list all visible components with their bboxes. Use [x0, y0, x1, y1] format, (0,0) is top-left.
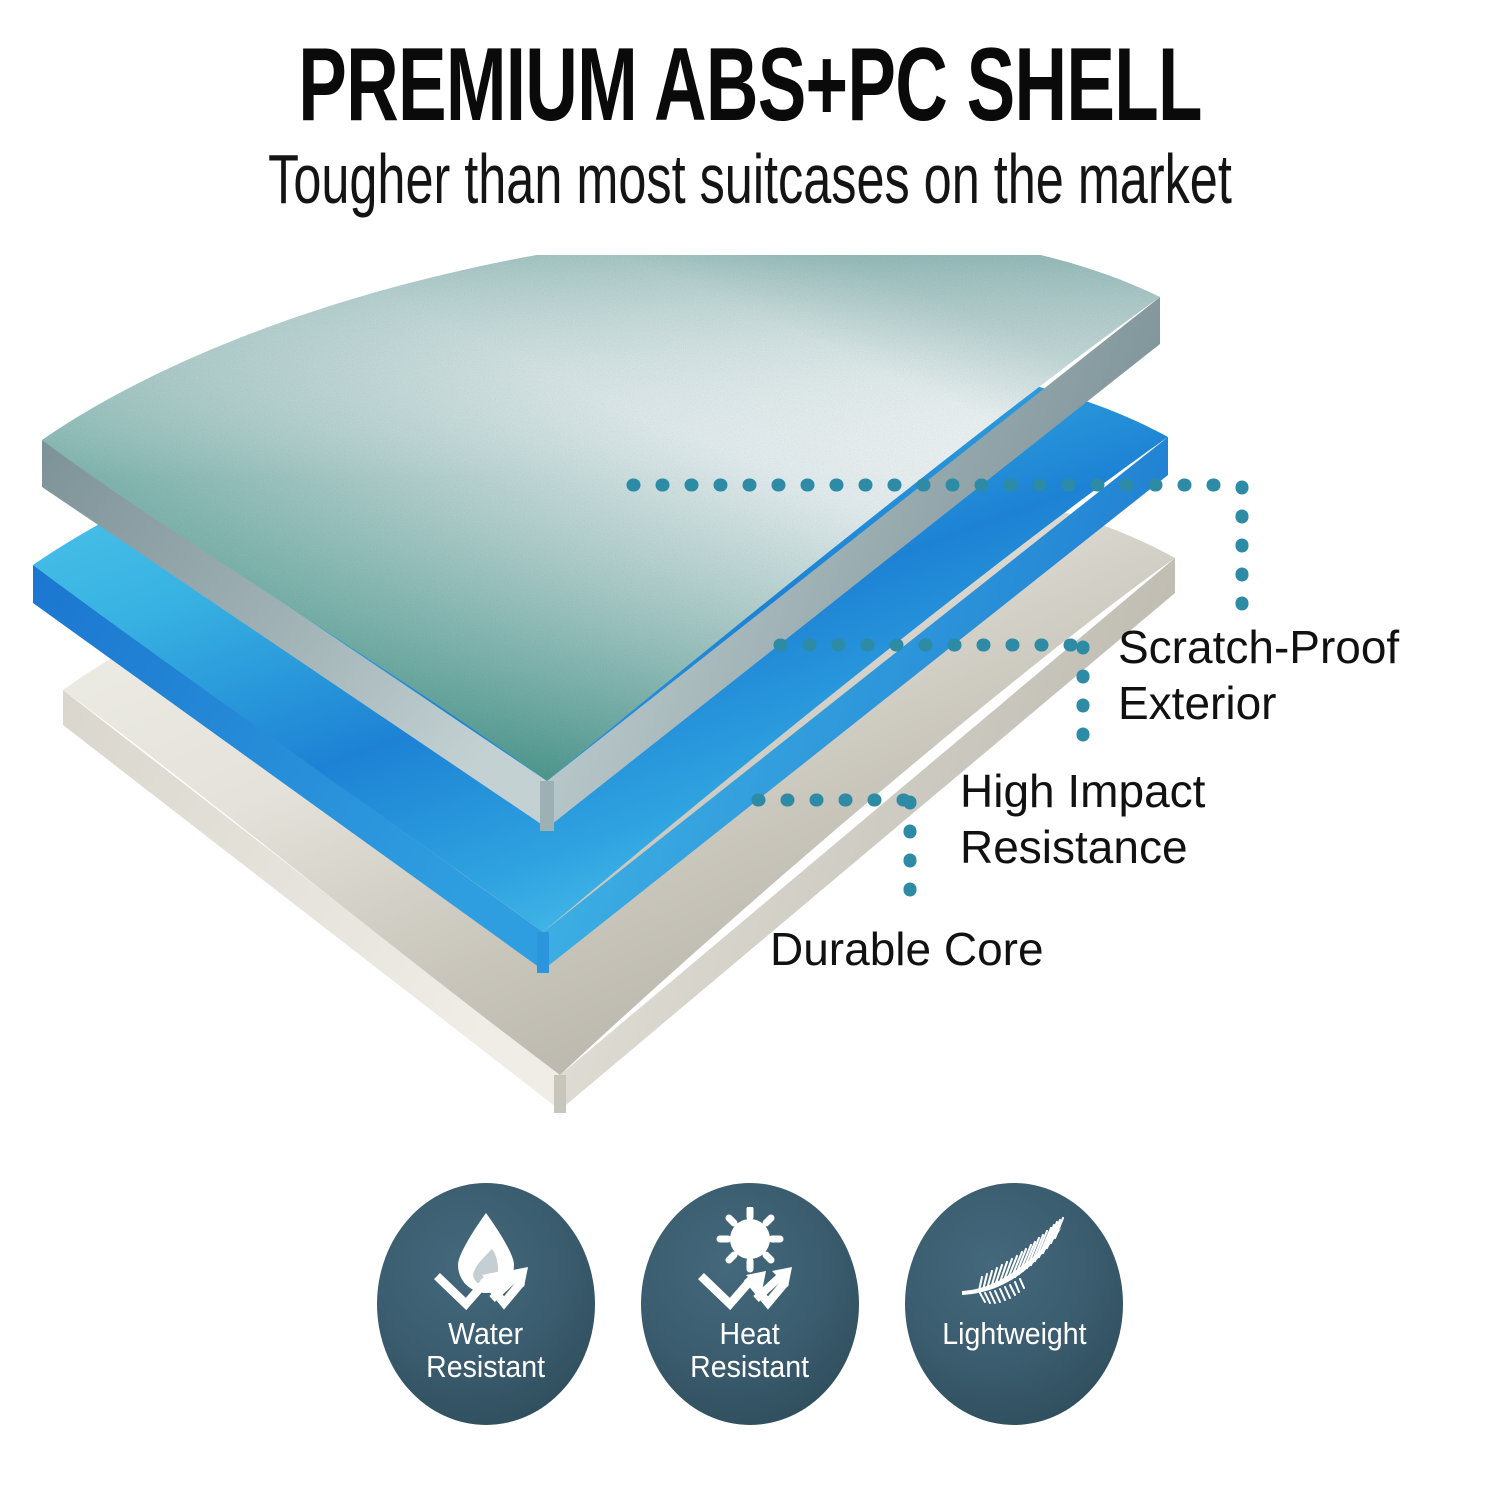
- page-subtitle: Tougher than most suitcases on the marke…: [210, 134, 1290, 214]
- layer-diagram: Scratch-Proof Exterior High Impact Resis…: [0, 255, 1500, 1185]
- badge-label-heat-resistant: Heat Resistant: [691, 1317, 810, 1384]
- label-scratch-proof-line2: Exterior: [1118, 677, 1276, 729]
- feather-icon: [954, 1207, 1074, 1311]
- badge-label-water-resistant: Water Resistant: [427, 1317, 546, 1384]
- label-high-impact-line1: High Impact: [960, 765, 1206, 817]
- badge-label-lightweight: Lightweight: [942, 1317, 1086, 1350]
- header: PREMIUM ABS+PC SHELL Tougher than most s…: [0, 0, 1500, 214]
- label-scratch-proof-line1: Scratch-Proof: [1118, 621, 1399, 673]
- sun-repel-icon: [690, 1207, 810, 1311]
- feature-badges: Water Resistant: [0, 1183, 1500, 1443]
- label-high-impact-line2: Resistance: [960, 821, 1188, 873]
- label-durable-core: Durable Core: [770, 923, 1044, 975]
- badge-lightweight[interactable]: Lightweight: [905, 1183, 1123, 1425]
- badge-heat-resistant[interactable]: Heat Resistant: [641, 1183, 859, 1425]
- water-drop-repel-icon: [426, 1207, 546, 1311]
- page-title: PREMIUM ABS+PC SHELL: [225, 0, 1275, 134]
- badge-water-resistant[interactable]: Water Resistant: [377, 1183, 595, 1425]
